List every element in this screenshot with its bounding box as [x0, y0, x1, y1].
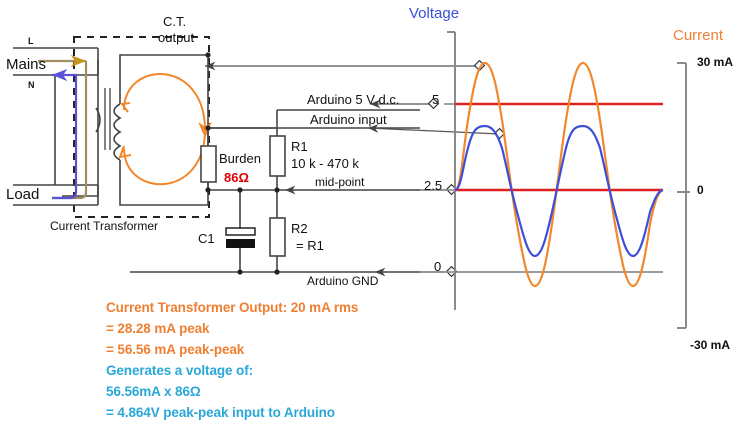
- secondary-winding: [114, 104, 120, 160]
- burden-label: Burden: [219, 151, 261, 166]
- current-transformer-label: Current Transformer: [50, 219, 158, 233]
- r2-value: = R1: [296, 238, 324, 253]
- arduino-gnd-label: Arduino GND: [307, 274, 378, 288]
- primary-conductor-loop: [62, 60, 98, 196]
- note-line-4: Generates a voltage of:: [106, 363, 253, 378]
- live-current-arrow: [38, 61, 86, 198]
- current-tick-30ma: 30 mA: [697, 55, 733, 69]
- current-tick-neg30ma: -30 mA: [690, 338, 730, 352]
- ct-output-label-line2: output: [158, 30, 194, 45]
- midpoint-label: mid-point: [315, 175, 364, 189]
- c1-label: C1: [198, 231, 215, 246]
- ct-dashed-box: [74, 37, 209, 217]
- current-axis-title: Current: [673, 27, 723, 44]
- voltage-tick-0: 0: [434, 259, 441, 274]
- voltage-axis-title: Voltage: [409, 5, 459, 22]
- ct-output-label-line1: C.T.: [163, 14, 186, 29]
- burden-value: 86Ω: [224, 170, 249, 185]
- current-tick-0: 0: [697, 183, 704, 197]
- arduino-input-label: Arduino input: [310, 112, 387, 127]
- mains-label: Mains: [6, 56, 46, 73]
- diagram-root: L Mains N Load Current Transformer C.T. …: [0, 0, 743, 433]
- current-axis: [677, 63, 690, 328]
- r1-label: R1: [291, 139, 308, 154]
- load-label: Load: [6, 186, 39, 203]
- transformer-core: [105, 88, 110, 150]
- voltage-tick-5: 5: [432, 92, 439, 107]
- callout-diamond-markers: [429, 61, 505, 277]
- r2-label: R2: [291, 221, 308, 236]
- ct-secondary-current-loop: [120, 74, 205, 184]
- note-line-1: Current Transformer Output: 20 mA rms: [106, 300, 358, 315]
- burden-resistor-symbol: [201, 146, 216, 182]
- arduino-5v-label: Arduino 5 V d.c.: [307, 92, 400, 107]
- note-line-3: = 56.56 mA peak-peak: [106, 342, 244, 357]
- note-line-2: = 28.28 mA peak: [106, 321, 209, 336]
- voltage-tick-2p5: 2.5: [424, 178, 442, 193]
- c1-capacitor-symbol: [226, 228, 255, 248]
- r2-resistor-symbol: [270, 218, 285, 256]
- line-label-L: L: [28, 36, 34, 46]
- r1-resistor-symbol: [270, 136, 285, 176]
- note-line-5: 56.56mA x 86Ω: [106, 384, 201, 399]
- neutral-label-N: N: [28, 80, 35, 90]
- secondary-wiring: [120, 55, 208, 205]
- r1-value: 10 k - 470 k: [291, 156, 359, 171]
- note-line-6: = 4.864V peak-peak input to Arduino: [106, 405, 335, 420]
